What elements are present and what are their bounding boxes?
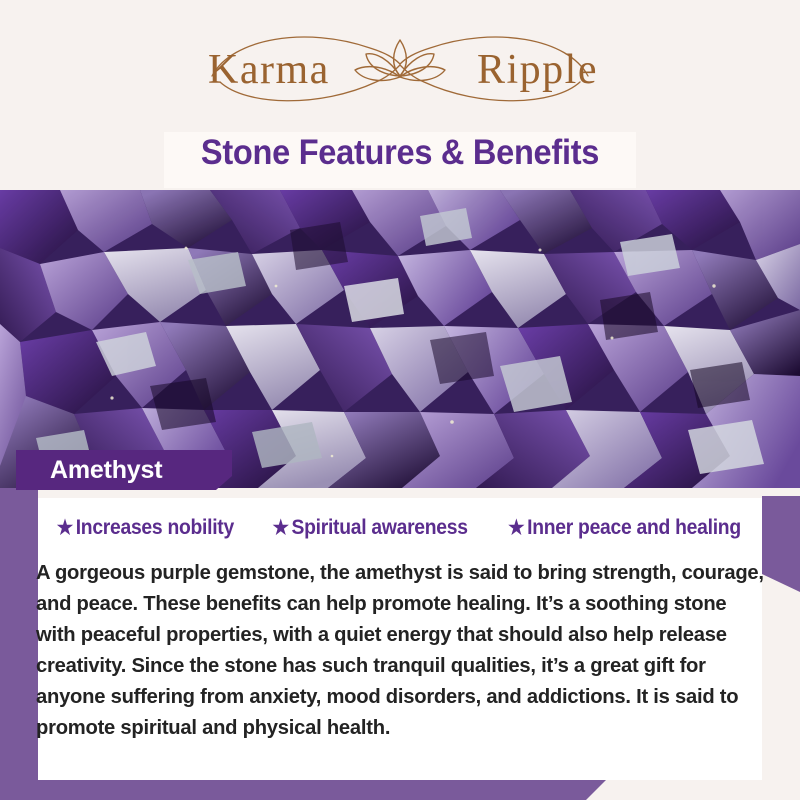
brand-word-ripple: Ripple xyxy=(477,46,598,94)
benefits-row: ★ Increases nobility ★ Spiritual awarene… xyxy=(38,516,762,540)
star-icon: ★ xyxy=(57,518,73,538)
benefit-item-3: ★ Inner peace and healing xyxy=(508,516,741,540)
brand-header: Karma Ripple xyxy=(0,0,800,130)
page-title: Stone Features & Benefits xyxy=(28,133,772,173)
stone-description: A gorgeous purple gemstone, the amethyst… xyxy=(36,557,765,743)
frame-accent-right xyxy=(762,496,800,592)
stone-name-label: Amethyst xyxy=(50,456,162,485)
benefit-item-1: ★ Increases nobility xyxy=(57,516,234,540)
frame-accent-bottom xyxy=(0,780,606,800)
lotus-icon xyxy=(355,40,445,81)
brand-word-karma: Karma xyxy=(208,46,330,94)
brand-logo: Karma Ripple xyxy=(180,20,620,112)
benefit-label-2: Spiritual awareness xyxy=(291,516,467,540)
benefit-label-1: Increases nobility xyxy=(76,516,234,540)
benefit-item-2: ★ Spiritual awareness xyxy=(272,516,467,540)
star-icon: ★ xyxy=(508,518,524,538)
stone-info-card: Karma Ripple Stone Features & Benefits xyxy=(0,0,800,800)
benefit-label-3: Inner peace and healing xyxy=(527,516,741,540)
amethyst-hero-image xyxy=(0,190,800,488)
star-icon: ★ xyxy=(272,518,288,538)
frame-accent-left xyxy=(0,488,38,800)
